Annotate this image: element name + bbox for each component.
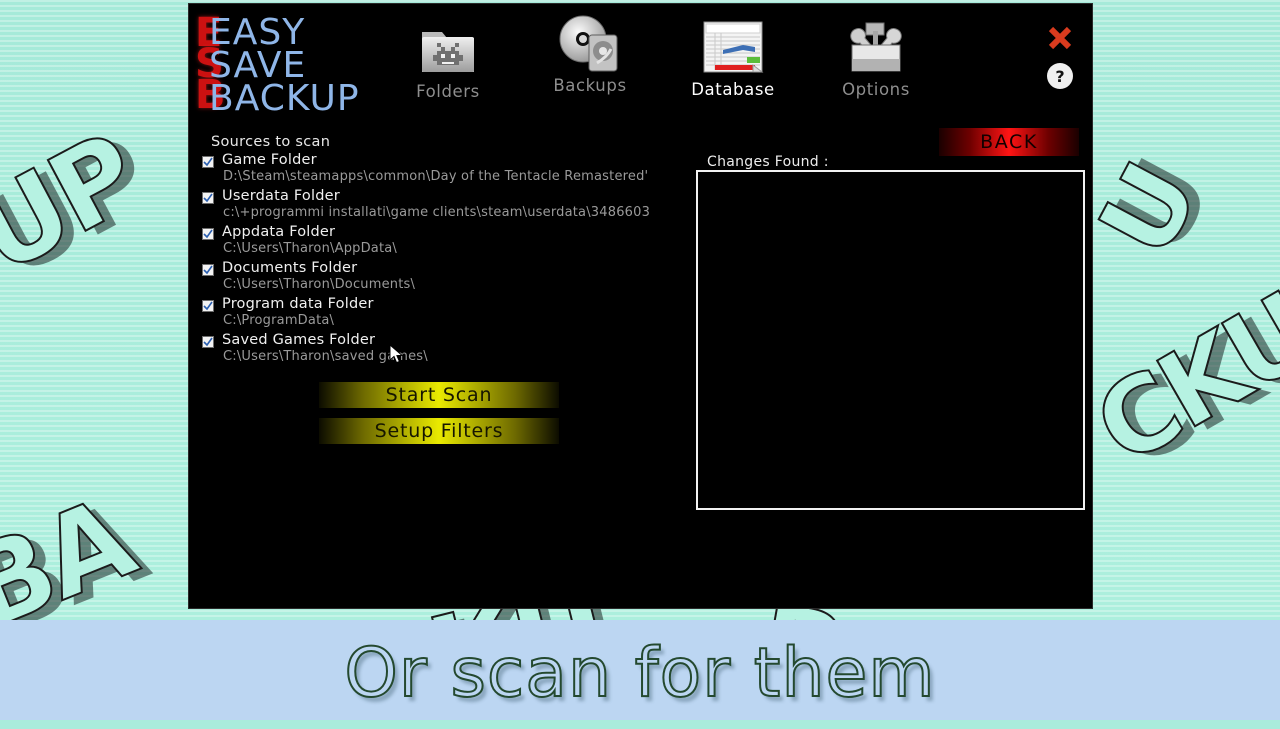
folder-alien-icon <box>389 18 507 82</box>
toolbox-icon <box>817 16 935 80</box>
source-path: D:\Steam\steamapps\common\Day of the Ten… <box>223 169 648 184</box>
changes-found-panel[interactable] <box>696 170 1085 510</box>
nav-item-options[interactable]: Options <box>817 16 935 99</box>
disc-drive-icon <box>531 12 649 76</box>
nav-label-database: Database <box>674 80 792 99</box>
source-path: c:\+programmi installati\game clients\st… <box>223 205 650 220</box>
sources-list: Game Folder D:\Steam\steamapps\common\Da… <box>201 154 686 370</box>
source-checkbox-documents-folder[interactable] <box>202 264 214 276</box>
changes-found-label: Changes Found : <box>707 154 829 170</box>
wallpaper-letter: CKUP <box>1076 233 1280 489</box>
nav-label-backups: Backups <box>531 76 649 95</box>
sources-to-scan-title: Sources to scan <box>211 134 330 150</box>
source-path: C:\Users\Tharon\Documents\ <box>223 277 415 292</box>
source-path: C:\Users\Tharon\AppData\ <box>223 241 397 256</box>
nav-item-backups[interactable]: Backups <box>531 12 649 95</box>
logo-wordmark: EASY SAVE BACKUP <box>209 16 360 115</box>
setup-filters-button[interactable]: Setup Filters <box>319 418 559 444</box>
app-header: ESB EASY SAVE BACKUP <box>189 4 1092 126</box>
source-row-userdata-folder: Userdata Folder c:\+programmi installati… <box>201 190 686 226</box>
caption-text: Or scan for them <box>0 634 1280 713</box>
source-checkbox-userdata-folder[interactable] <box>202 192 214 204</box>
source-name: Saved Games Folder <box>222 332 375 348</box>
back-button[interactable]: BACK <box>939 128 1079 156</box>
logo-line-3: BACKUP <box>209 78 360 119</box>
source-row-game-folder: Game Folder D:\Steam\steamapps\common\Da… <box>201 154 686 190</box>
main-navigation: Folders Backups <box>389 12 889 120</box>
nav-label-options: Options <box>817 80 935 99</box>
help-icon[interactable]: ? <box>1046 62 1076 92</box>
source-checkbox-program-data-folder[interactable] <box>202 300 214 312</box>
nav-item-database[interactable]: Database <box>674 16 792 99</box>
easy-save-backup-window: ESB EASY SAVE BACKUP <box>188 3 1093 609</box>
source-checkbox-saved-games-folder[interactable] <box>202 336 214 348</box>
spreadsheet-icon <box>674 16 792 80</box>
close-icon[interactable] <box>1044 22 1076 54</box>
source-name: Program data Folder <box>222 296 374 312</box>
source-row-program-data-folder: Program data Folder C:\ProgramData\ <box>201 298 686 334</box>
nav-label-folders: Folders <box>389 82 507 101</box>
source-row-documents-folder: Documents Folder C:\Users\Tharon\Documen… <box>201 262 686 298</box>
source-checkbox-appdata-folder[interactable] <box>202 228 214 240</box>
source-row-appdata-folder: Appdata Folder C:\Users\Tharon\AppData\ <box>201 226 686 262</box>
wallpaper-letter: UP <box>0 109 157 298</box>
source-row-saved-games-folder: Saved Games Folder C:\Users\Tharon\saved… <box>201 334 686 370</box>
source-checkbox-game-folder[interactable] <box>202 156 214 168</box>
source-path: C:\ProgramData\ <box>223 313 334 328</box>
start-scan-button[interactable]: Start Scan <box>319 382 559 408</box>
source-path: C:\Users\Tharon\saved games\ <box>223 349 428 364</box>
source-name: Appdata Folder <box>222 224 335 240</box>
nav-item-folders[interactable]: Folders <box>389 18 507 101</box>
app-logo: ESB EASY SAVE BACKUP <box>195 16 385 112</box>
source-name: Game Folder <box>222 152 317 168</box>
caption-bar: Or scan for them <box>0 620 1280 720</box>
source-name: Userdata Folder <box>222 188 340 204</box>
wallpaper-letter: U <box>1075 147 1220 275</box>
source-name: Documents Folder <box>222 260 357 276</box>
svg-text:?: ? <box>1055 67 1064 86</box>
